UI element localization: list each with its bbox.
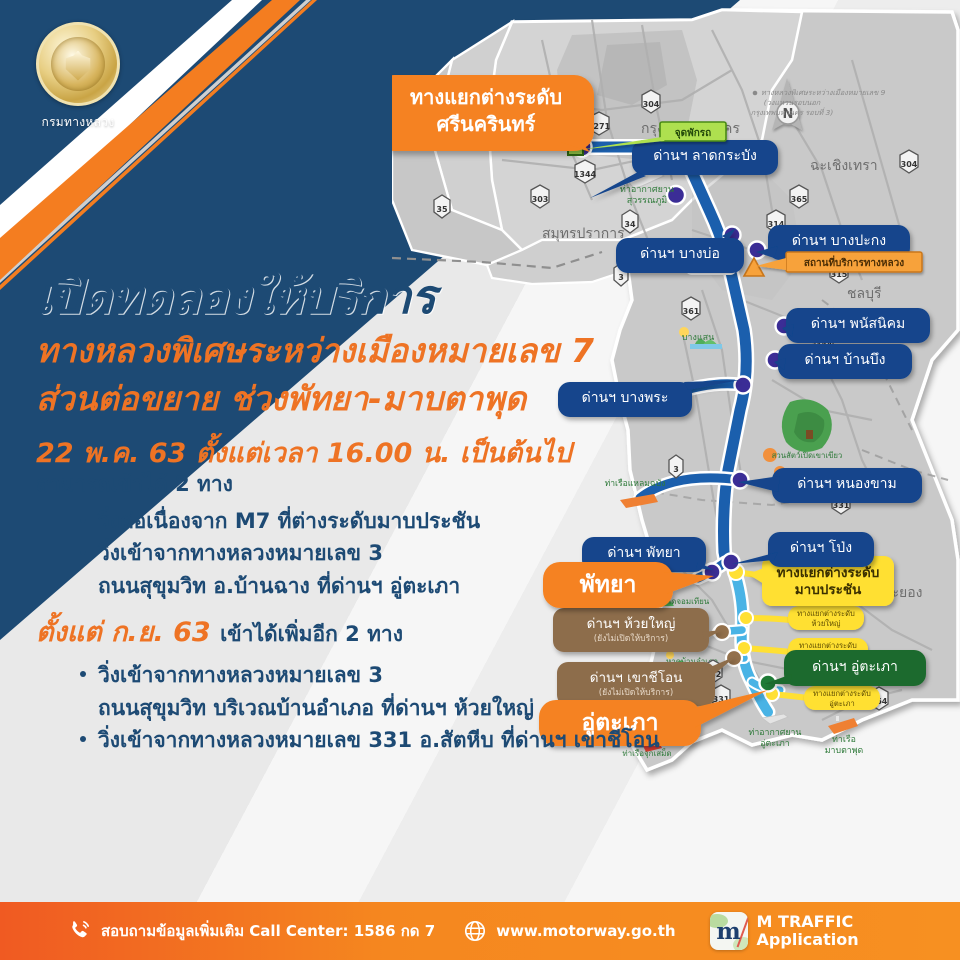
tollgate-latkrabang: ด่านฯ ลาดกระบัง — [653, 148, 757, 164]
list-item: วิ่งต่อเนื่องจาก M7 ที่ต่างระดับมาบประชั… — [80, 505, 660, 538]
access-later-heading: ตั้งแต่ ก.ย. 63 เข้าได้เพิ่มอีก 2 ทาง — [36, 610, 660, 653]
footer-bar: สอบถามข้อมูลเพิ่มเติม Call Center: 1586 … — [0, 902, 960, 960]
ring-note-line2: (วงแหวนรอบนอก — [764, 98, 821, 107]
access-later-heading-orange: ตั้งแต่ ก.ย. 63 — [36, 617, 211, 648]
app-name: M TRAFFIC Application — [757, 913, 859, 949]
route-shield-3b: 3 — [669, 455, 683, 478]
emblem-crest-icon — [61, 51, 95, 81]
svg-text:34: 34 — [624, 220, 636, 229]
m-traffic-app-icon: m — [710, 912, 748, 950]
agency-brand: กรมทางหลวง — [22, 22, 134, 132]
place-bangsaen: บางแสน — [682, 333, 715, 343]
callout-sinakharin-l1: ทางแยกต่างระดับ — [410, 85, 562, 109]
headline-block: เปิดทดลองให้บริการ ทางหลวงพิเศษระหว่างเม… — [0, 270, 660, 757]
svg-text:35: 35 — [436, 205, 448, 214]
headline-line2: ทางหลวงพิเศษระหว่างเมืองหมายเลข 7 — [36, 329, 660, 373]
yellow-big-l1: ทางแยกต่างระดับ — [777, 565, 880, 581]
province-chachoengsao: ฉะเชิงเทรา — [810, 158, 878, 174]
place-maptaphut-port-l1: ท่าเรือ — [832, 734, 856, 745]
place-maptaphut-port-l2: มาบตาพุด — [825, 746, 864, 756]
place-suvarnabhumi-l2: สุวรรณภูมิ — [627, 195, 667, 206]
place-utapao-airport-l2: อู่ตะเภา — [760, 739, 790, 749]
phone-ringing-icon — [66, 918, 92, 944]
yellow-utapao-l2: อู่ตะเภา — [829, 699, 854, 708]
zoo-icon — [782, 399, 832, 452]
website-block[interactable]: www.motorway.go.th — [463, 919, 675, 943]
tollgate-bangpakong: ด่านฯ บางปะกง — [792, 233, 886, 249]
headline-line1: เปิดทดลองให้บริการ — [36, 270, 660, 325]
list-item-continuation: ถนนสุขุมวิท อ.บ้านฉาง ที่ด่านฯ อู่ตะเภา — [80, 570, 660, 603]
call-center-text: สอบถามข้อมูลเพิ่มเติม Call Center: 1586 … — [101, 919, 435, 943]
access-later-list: วิ่งเข้าจากทางหลวงหมายเลข 3 ถนนสุขุมวิท … — [80, 659, 660, 757]
svg-text:303: 303 — [532, 195, 549, 204]
route-shield-304b: 304 — [900, 150, 918, 173]
svg-text:365: 365 — [791, 195, 808, 204]
province-samutprakan: สมุทรปราการ — [542, 226, 625, 242]
svg-text:3: 3 — [673, 465, 679, 474]
ring-note-line1: ทางหลวงพิเศษระหว่างเมืองหมายเลข 9 — [761, 88, 886, 97]
route-shield-304a: 304 — [642, 90, 660, 113]
tollgate-pong: ด่านฯ โป่ง — [790, 539, 852, 556]
tollgate-utapao: ด่านฯ อู่ตะเภา — [812, 659, 898, 675]
place-utapao-airport-l1: ท่าอากาศยาน — [749, 728, 802, 738]
list-item: วิ่งเข้าจากทางหลวงหมายเลข 331 อ.สัตหีบ ท… — [80, 724, 660, 757]
access-now-list: วิ่งต่อเนื่องจาก M7 ที่ต่างระดับมาบประชั… — [80, 505, 660, 603]
website-url[interactable]: www.motorway.go.th — [496, 922, 675, 940]
svg-text:361: 361 — [683, 307, 700, 316]
route-shield-365: 365 — [790, 185, 808, 208]
place-khaokheow-zoo: สวนสัตว์เปิดเขาเขียว — [772, 451, 843, 460]
place-suvarnabhumi-l1: ท่าอากาศยาน — [620, 185, 674, 195]
globe-icon — [463, 919, 487, 943]
list-item: วิ่งเข้าจากทางหลวงหมายเลข 3 — [80, 537, 660, 570]
tollgate-bangbo: ด่านฯ บางบ่อ — [640, 246, 720, 262]
agency-name: กรมทางหลวง — [22, 113, 134, 132]
rest-stop-label: จุดพักรถ — [675, 127, 711, 139]
tollgate-phanatnikhom: ด่านฯ พนัสนิคม — [811, 316, 905, 332]
ring-note-line3: กรุงเทพมหานคร รอบที่ 3) — [751, 107, 834, 117]
headline-date: 22 พ.ค. 63 ตั้งแต่เวลา 16.00 น. เป็นต้นไ… — [36, 437, 660, 471]
yellow-bankhaocheeon-l1: ทางแยกต่างระดับ — [799, 641, 857, 650]
svg-text:304: 304 — [901, 160, 918, 169]
access-now-heading: สามารถเข้าได้ 2 ทาง — [36, 471, 660, 498]
route-shield-35: 35 — [434, 195, 450, 218]
service-area-label: สถานที่บริการทางหลวง — [804, 255, 904, 269]
province-chonburi: ชลบุรี — [847, 286, 882, 302]
svg-text:1344: 1344 — [574, 170, 597, 179]
list-item: วิ่งเข้าจากทางหลวงหมายเลข 3 — [80, 659, 660, 692]
tollgate-nongkham: ด่านฯ หนองขาม — [797, 476, 897, 492]
infographic-poster: กรมทางหลวง — [0, 0, 960, 960]
yellow-big-l2: มาบประชัน — [795, 582, 862, 598]
app-name-line2: Application — [757, 931, 859, 949]
yellow-utapao-l1: ทางแยกต่างระดับ — [813, 689, 871, 698]
route-shield-34: 34 — [622, 210, 638, 233]
green-tollgate-label: ด่านฯ อู่ตะเภา — [764, 650, 926, 686]
yellow-huaiyai-l2: ห้วยใหญ่ — [812, 619, 841, 628]
callout-sinakharin-l2: ศรีนครินทร์ — [437, 112, 536, 136]
department-of-highways-emblem-icon — [36, 22, 120, 106]
svg-text:304: 304 — [643, 100, 660, 109]
yellow-huaiyai-l1: ทางแยกต่างระดับ — [797, 609, 855, 618]
access-later-heading-navy: เข้าได้เพิ่มอีก 2 ทาง — [220, 622, 403, 646]
tollgate-banbueng: ด่านฯ บ้านบึง — [805, 352, 886, 368]
call-center-block: สอบถามข้อมูลเพิ่มเติม Call Center: 1586 … — [66, 918, 435, 944]
headline-line3: ส่วนต่อขยาย ช่วงพัทยา-มาบตาพุด — [36, 377, 660, 421]
interchange-node — [739, 611, 753, 625]
app-name-line1: M TRAFFIC — [757, 913, 859, 931]
route-shield-361: 361 — [682, 297, 700, 320]
m-traffic-app-block[interactable]: m M TRAFFIC Application — [710, 912, 859, 950]
route-shield-303: 303 — [531, 185, 549, 208]
list-item-continuation: ถนนสุขุมวิท บริเวณบ้านอำเภอ ที่ด่านฯ ห้ว… — [80, 692, 660, 725]
